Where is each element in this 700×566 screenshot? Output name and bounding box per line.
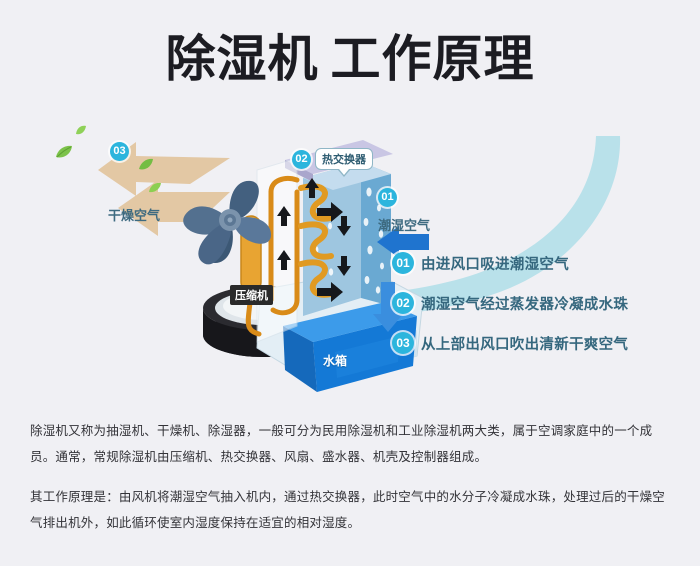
legend-label-02: 潮湿空气经过蒸发器冷凝成水珠	[421, 293, 628, 314]
callout-dry-air: 03	[110, 142, 129, 161]
description-paragraph-1: 除湿机又称为抽湿机、干燥机、除湿器，一般可分为民用除湿机和工业除湿机两大类，属于…	[30, 418, 675, 470]
leaf-icon	[138, 158, 154, 176]
leaf-icon	[55, 145, 73, 164]
callout-humid-air-badge: 01	[378, 188, 397, 207]
legend-item-01: 01 由进风口吸进潮湿空气	[392, 252, 692, 274]
page-title: 除湿机工作原理	[0, 32, 700, 87]
legend-label-01: 由进风口吸进潮湿空气	[421, 253, 569, 274]
description-paragraph-2: 其工作原理是：由风机将潮湿空气抽入机内，通过热交换器，此时空气中的水分子冷凝成水…	[30, 484, 675, 536]
legend-list: 01 由进风口吸进潮湿空气 02 潮湿空气经过蒸发器冷凝成水珠 03 从上部出风…	[392, 252, 692, 372]
legend-item-03: 03 从上部出风口吹出清新干爽空气	[392, 332, 692, 354]
infographic-page: 除湿机工作原理	[0, 0, 700, 566]
compressor-label: 压缩机	[230, 285, 273, 305]
fan-graphic	[175, 165, 285, 280]
humid-air-label: 潮湿空气	[378, 218, 430, 233]
legend-badge-02: 02	[392, 292, 414, 314]
page-title-part1: 除湿机	[166, 31, 319, 87]
callout-humid-air-label: 潮湿空气	[378, 215, 430, 235]
description-block: 除湿机又称为抽湿机、干燥机、除湿器，一般可分为民用除湿机和工业除湿机两大类，属于…	[30, 418, 675, 536]
legend-badge-03: 03	[392, 332, 414, 354]
callout-heat-exchanger-badge: 02	[292, 150, 311, 169]
leaf-icon	[75, 122, 87, 140]
heat-exchanger-label: 热交换器	[315, 148, 373, 170]
callout-dry-air-label: 干燥空气	[108, 205, 160, 225]
leaf-icon	[148, 180, 162, 198]
page-title-part2: 工作原理	[331, 31, 535, 87]
dry-air-label: 干燥空气	[108, 208, 160, 223]
legend-badge-01: 01	[392, 252, 414, 274]
legend-label-03: 从上部出风口吹出清新干爽空气	[421, 333, 628, 354]
callout-heat-exchanger: 02热交换器	[292, 148, 373, 170]
callout-humid-air: 01	[378, 188, 397, 207]
legend-item-02: 02 潮湿空气经过蒸发器冷凝成水珠	[392, 292, 692, 314]
water-tank-label: 水箱	[323, 352, 347, 369]
callout-dry-air-badge: 03	[110, 142, 129, 161]
